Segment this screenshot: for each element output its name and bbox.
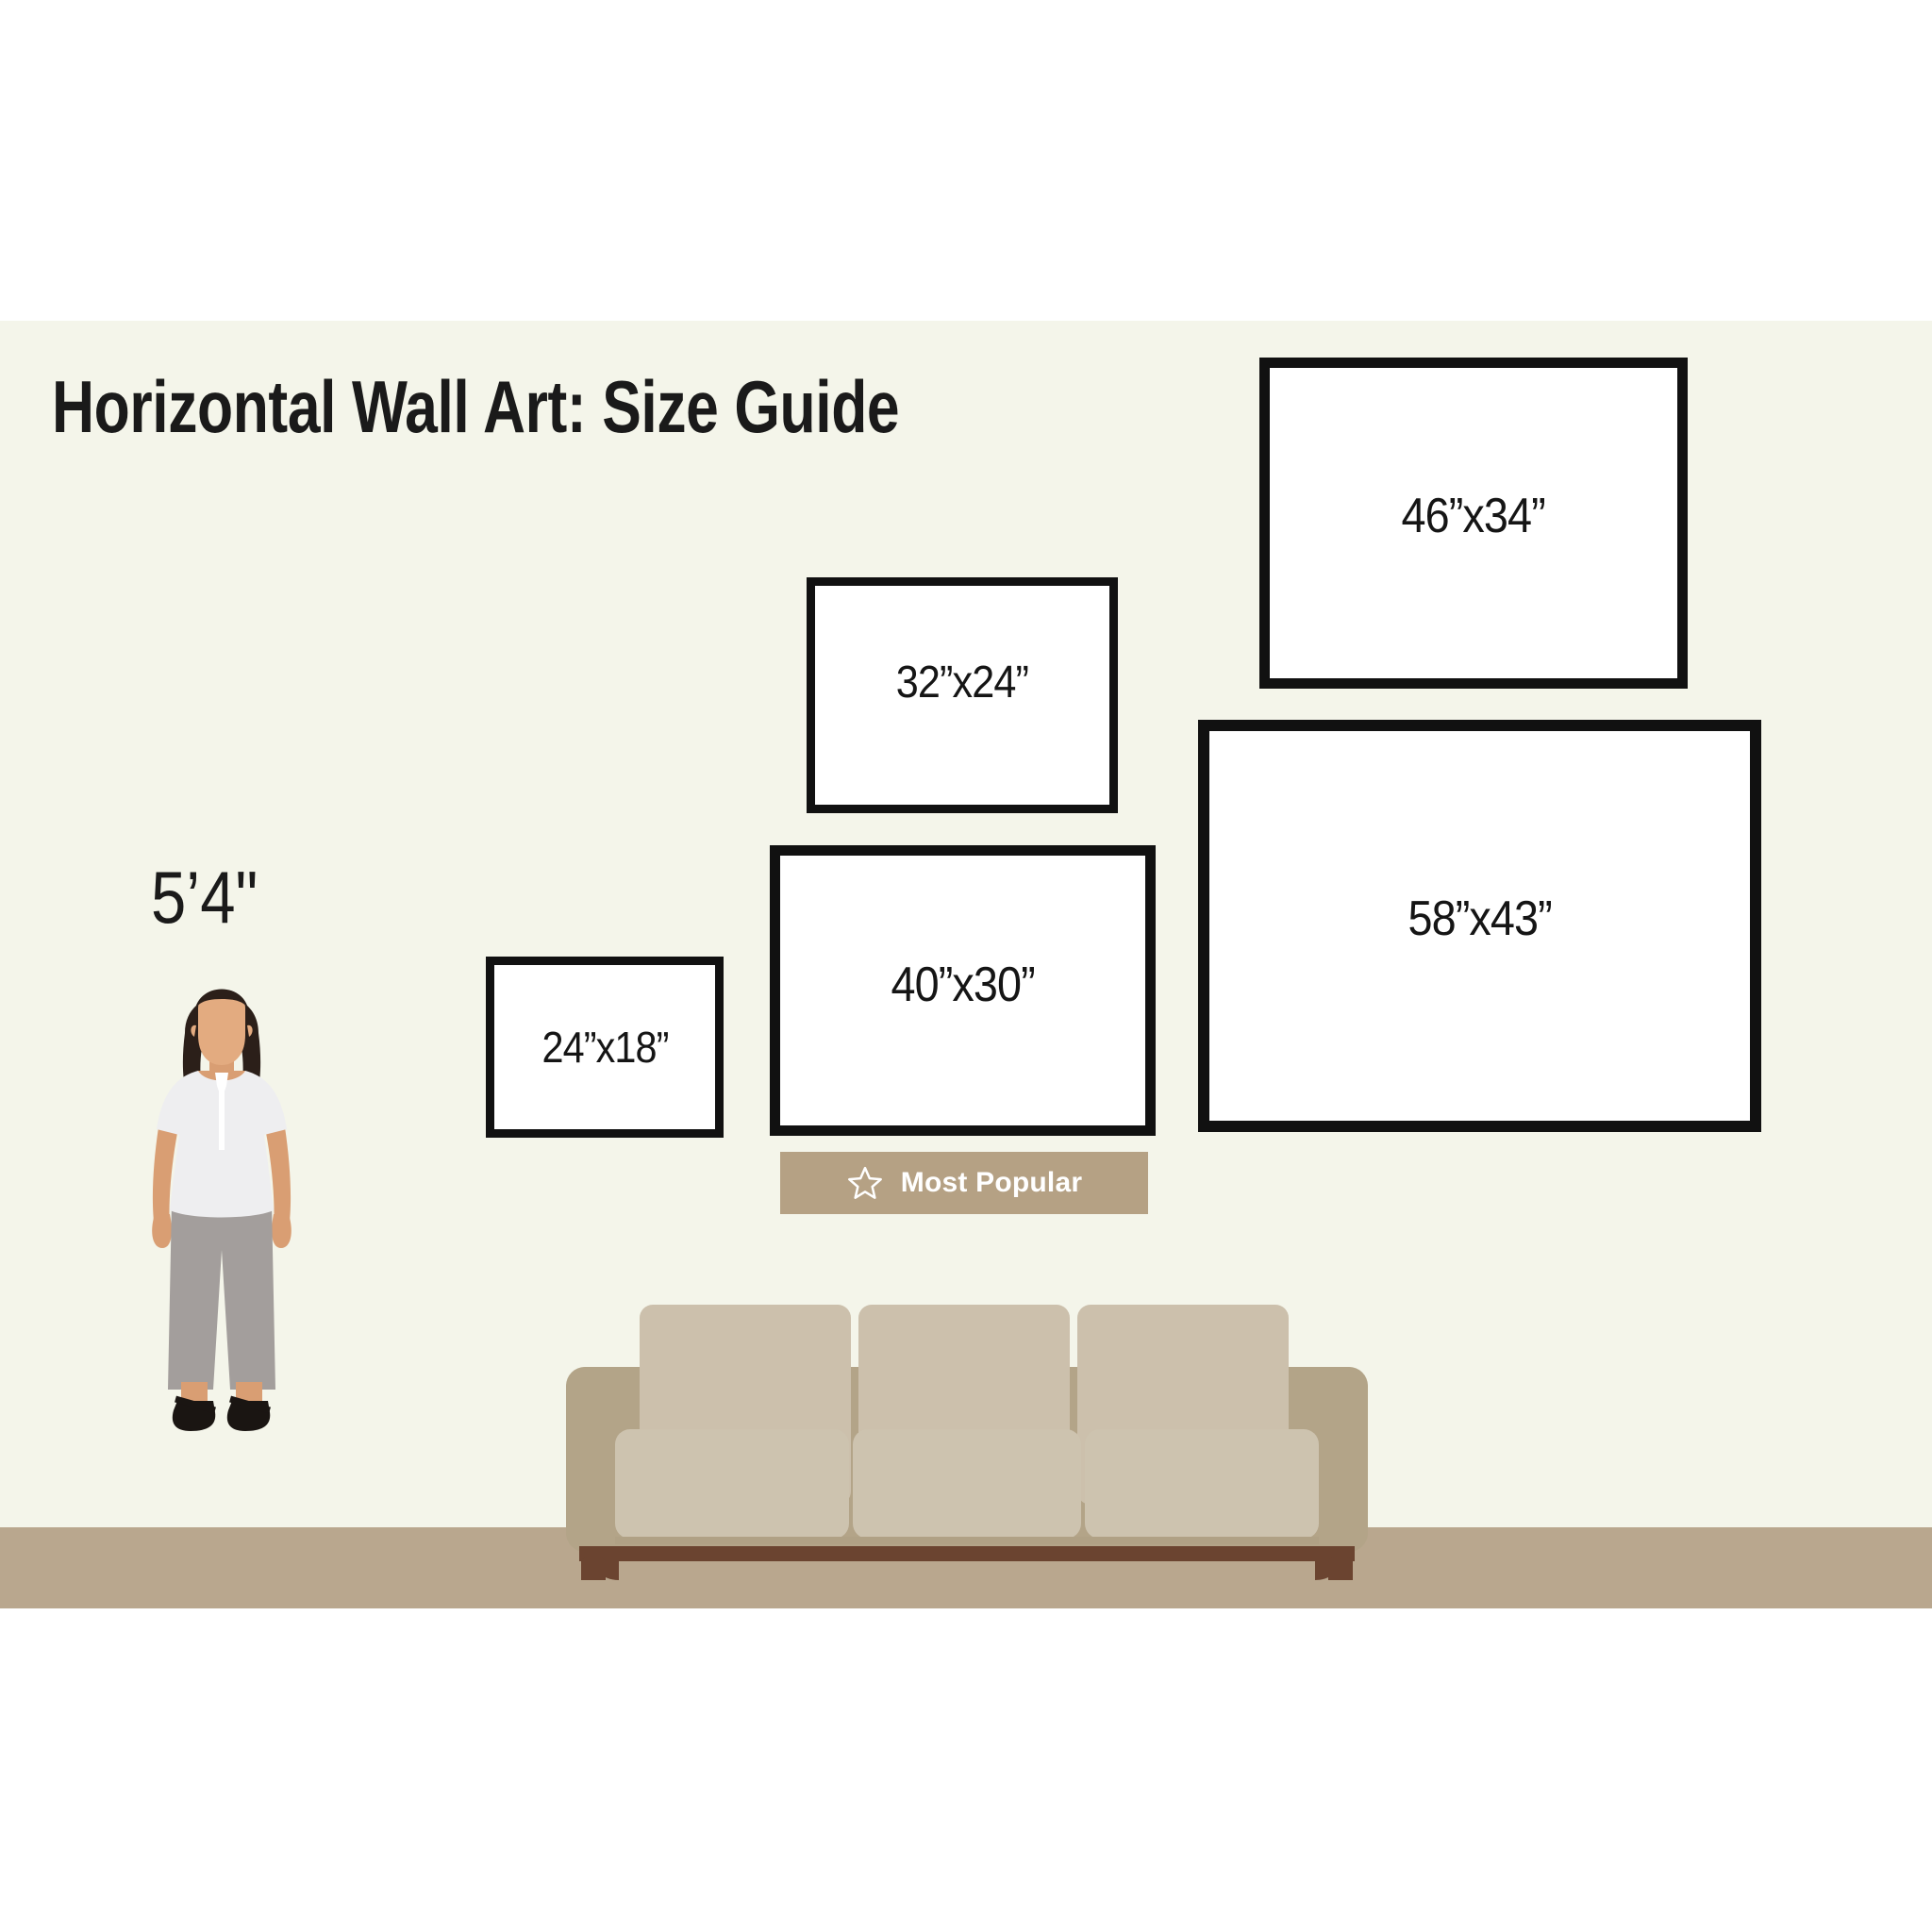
star-outline-icon [846, 1164, 884, 1202]
art-frame-58x43[interactable]: 58”x43” [1198, 720, 1761, 1132]
face [198, 991, 245, 1066]
art-frame-label: 24”x18” [541, 1022, 668, 1073]
art-frame-24x18[interactable]: 24”x18” [486, 957, 724, 1138]
art-frame-label: 58”x43” [1407, 891, 1551, 947]
art-frame-label: 32”x24” [896, 657, 1028, 708]
hand-left [152, 1214, 172, 1248]
art-frame-40x30[interactable]: 40”x30” [770, 845, 1156, 1136]
art-frame-label: 40”x30” [891, 957, 1034, 1013]
art-frame-label: 46”x34” [1402, 488, 1545, 544]
sofa-foot-left [581, 1557, 606, 1580]
sofa-foot-right [1328, 1557, 1353, 1580]
sofa-seat-cushion-right [1085, 1429, 1319, 1539]
hand-right [272, 1214, 291, 1248]
pants [168, 1203, 275, 1390]
most-popular-label: Most Popular [901, 1167, 1082, 1199]
wall-art-size-guide-infographic: Horizontal Wall Art: Size Guide 5’4" [0, 0, 1932, 1932]
page-title: Horizontal Wall Art: Size Guide [52, 370, 899, 443]
sofa [557, 1288, 1377, 1580]
art-frame-32x24[interactable]: 32”x24” [807, 577, 1118, 813]
sofa-seat-cushion-center [853, 1429, 1081, 1539]
sofa-seat-rail [615, 1537, 1319, 1544]
shirt-placket [219, 1091, 225, 1150]
art-frame-46x34[interactable]: 46”x34” [1259, 358, 1688, 689]
sofa-seat-cushion-left [615, 1429, 849, 1539]
sofa-base-rail [579, 1546, 1355, 1561]
person-height-label: 5’4" [151, 860, 258, 934]
person-figure [132, 967, 311, 1533]
most-popular-badge[interactable]: Most Popular [780, 1152, 1148, 1214]
